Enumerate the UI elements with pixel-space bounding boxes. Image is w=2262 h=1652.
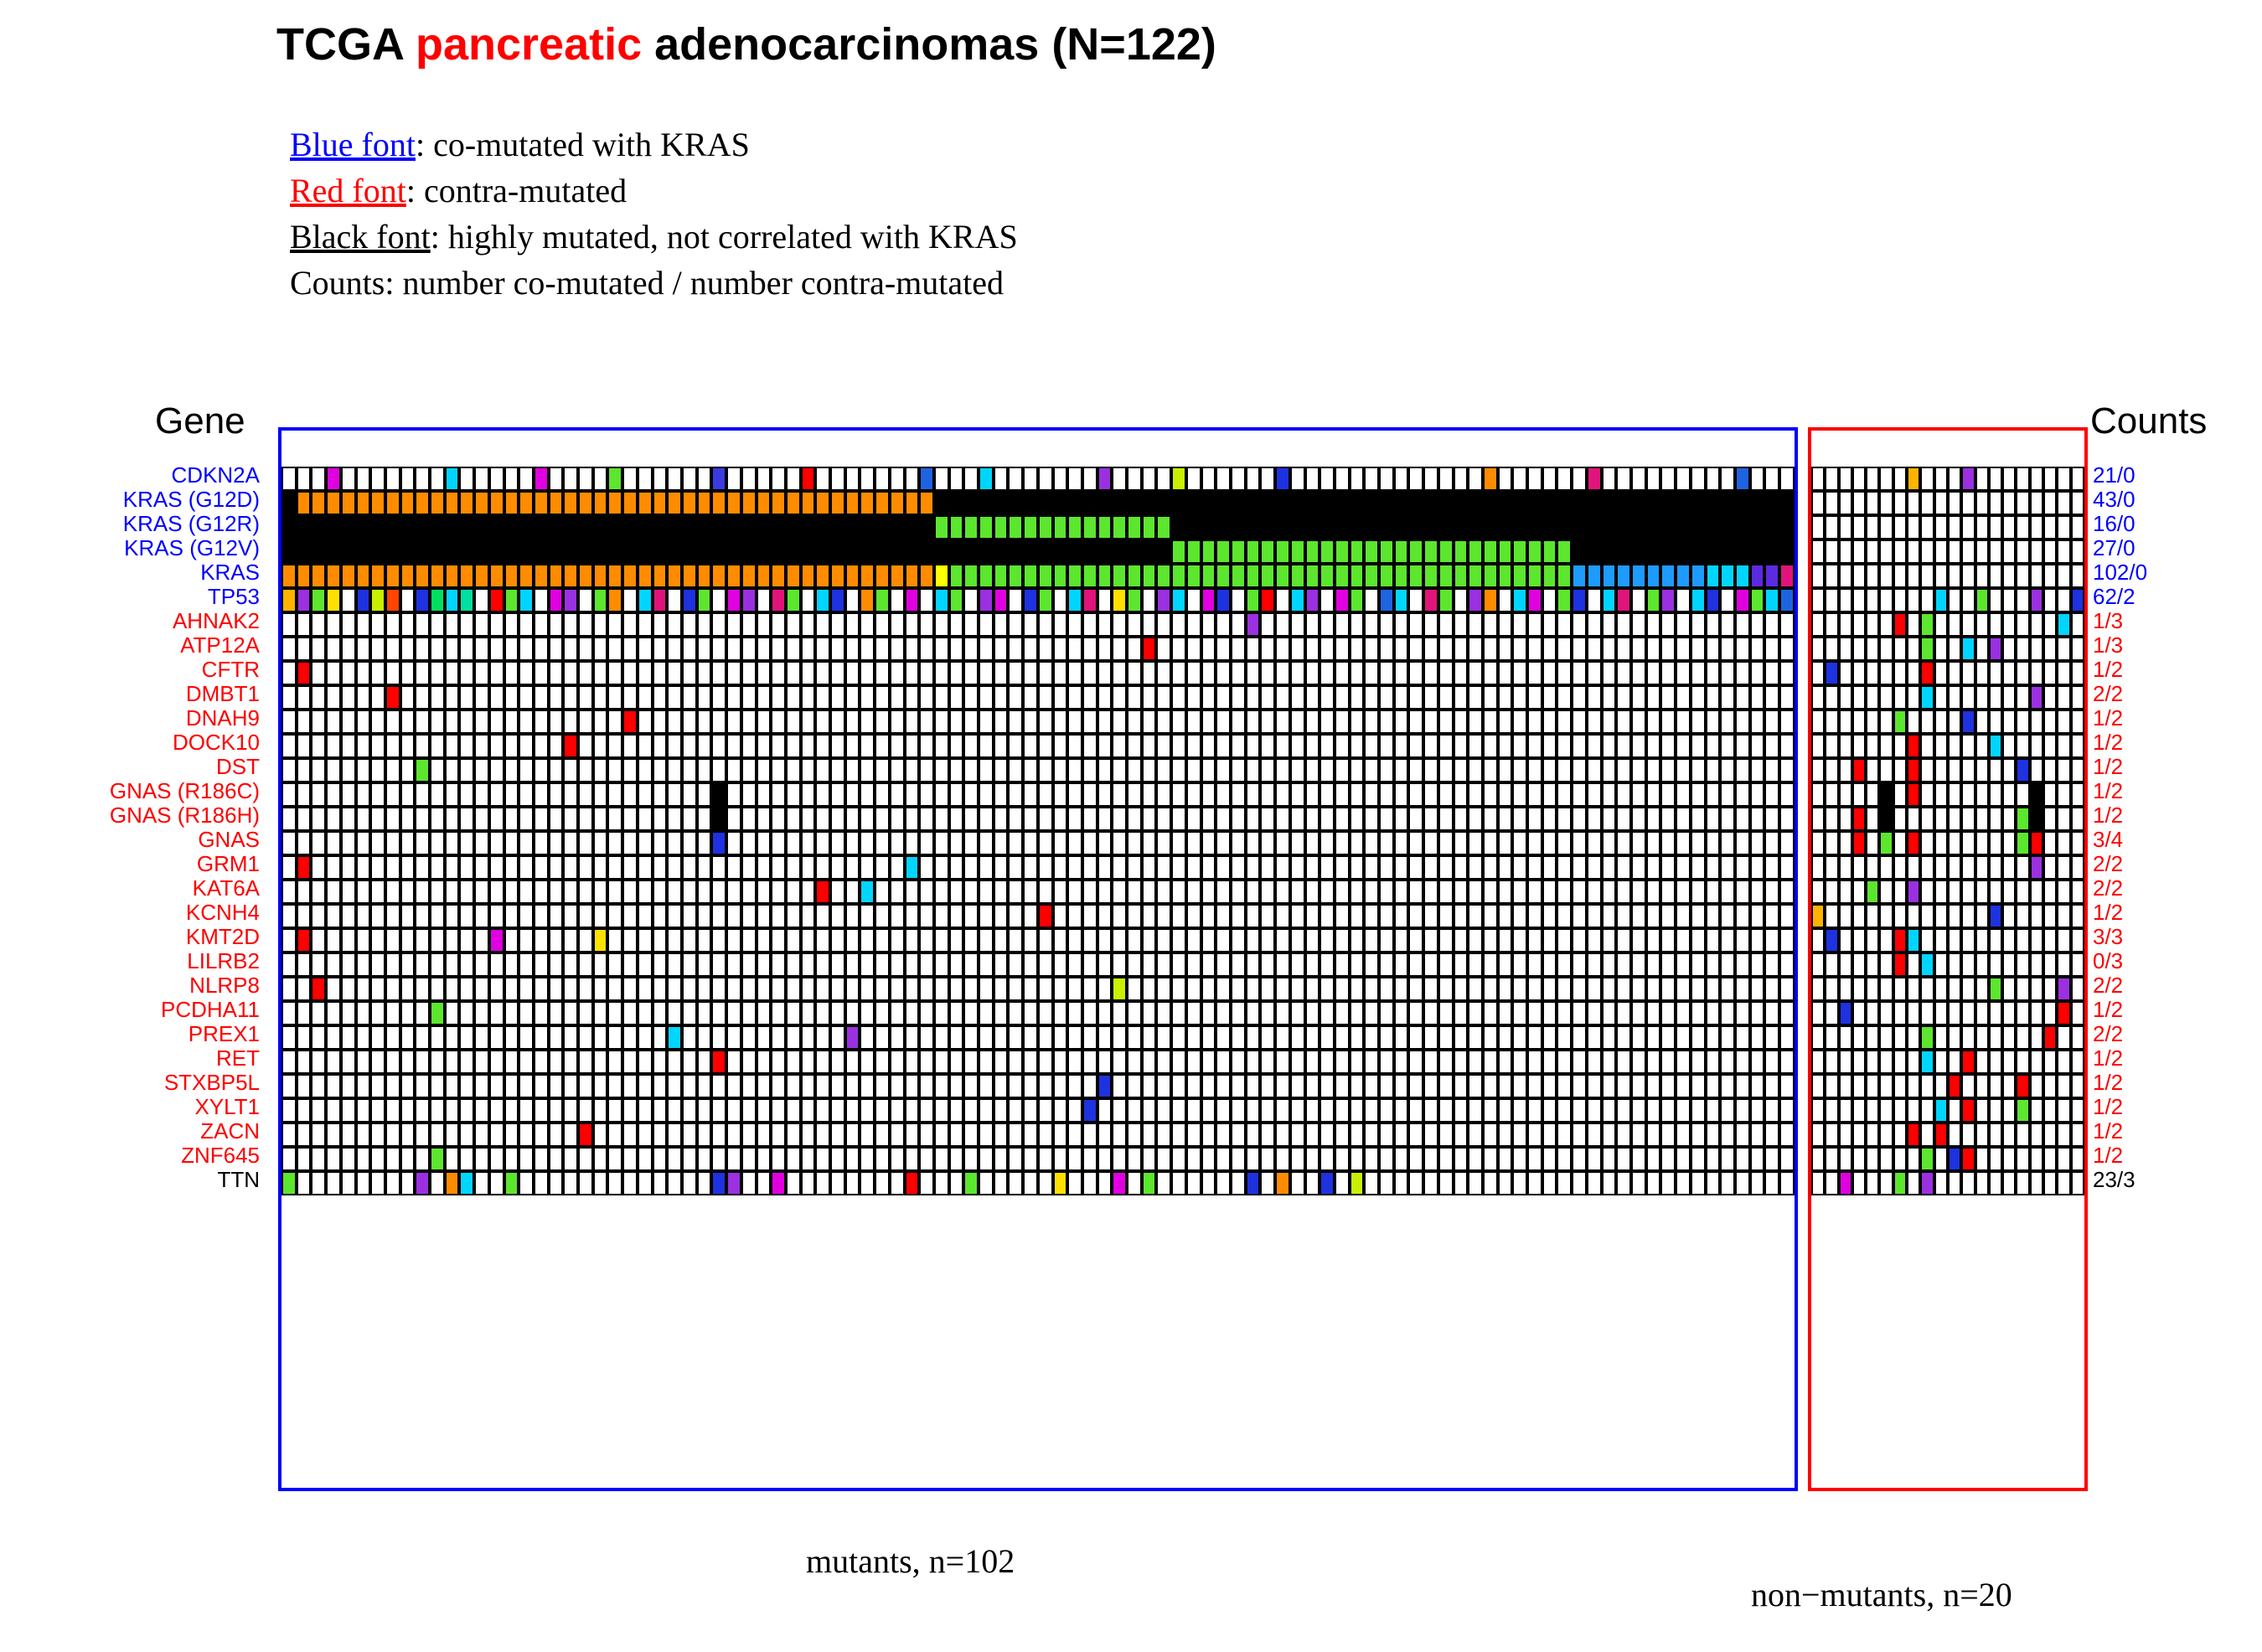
heatmap-cell[interactable] [1866,758,1879,782]
heatmap-cell[interactable] [963,539,979,564]
heatmap-cell[interactable] [474,491,489,515]
heatmap-cell[interactable] [949,1001,964,1025]
heatmap-cell[interactable] [1364,831,1379,855]
heatmap-cell[interactable] [1720,710,1735,734]
heatmap-cell[interactable] [459,1147,474,1171]
heatmap-cell[interactable] [697,1147,712,1171]
heatmap-cell[interactable] [1082,515,1097,539]
heatmap-cell[interactable] [2071,1025,2084,1050]
heatmap-cell[interactable] [607,710,622,734]
heatmap-cell[interactable] [1438,758,1454,782]
heatmap-cell[interactable] [1542,1050,1557,1074]
heatmap-cell[interactable] [638,1001,653,1025]
heatmap-cell[interactable] [1483,1050,1498,1074]
heatmap-cell[interactable] [415,758,430,782]
heatmap-cell[interactable] [1142,491,1157,515]
heatmap-cell[interactable] [1779,977,1795,1001]
heatmap-cell[interactable] [2057,588,2070,612]
heatmap-cell[interactable] [2043,491,2057,515]
heatmap-cell[interactable] [1920,491,1934,515]
heatmap-cell[interactable] [430,977,445,1001]
heatmap-cell[interactable] [370,685,385,710]
heatmap-cell[interactable] [1097,710,1113,734]
heatmap-cell[interactable] [549,564,564,588]
heatmap-cell[interactable] [1008,1098,1023,1123]
heatmap-cell[interactable] [1008,1074,1023,1098]
heatmap-cell[interactable] [1408,1074,1423,1098]
heatmap-cell[interactable] [741,807,757,831]
heatmap-cell[interactable] [1811,977,1825,1001]
heatmap-cell[interactable] [1948,1025,1961,1050]
heatmap-cell[interactable] [370,637,385,661]
heatmap-cell[interactable] [741,515,757,539]
heatmap-cell[interactable] [1720,612,1735,637]
heatmap-cell[interactable] [578,831,593,855]
heatmap-cell[interactable] [1735,1050,1750,1074]
heatmap-cell[interactable] [1319,685,1335,710]
heatmap-cell[interactable] [1468,515,1483,539]
heatmap-cell[interactable] [1216,588,1231,612]
heatmap-cell[interactable] [534,637,549,661]
heatmap-cell[interactable] [1602,1050,1617,1074]
heatmap-cell[interactable] [1038,880,1053,904]
heatmap-cell[interactable] [504,734,519,758]
heatmap-cell[interactable] [682,782,697,807]
heatmap-cell[interactable] [979,952,994,977]
heatmap-cell[interactable] [1454,1025,1469,1050]
heatmap-cell[interactable] [1631,661,1646,685]
heatmap-cell[interactable] [2057,1123,2070,1147]
heatmap-cell[interactable] [1907,564,1920,588]
heatmap-cell[interactable] [1275,491,1290,515]
heatmap-cell[interactable] [726,952,741,977]
heatmap-cell[interactable] [1676,661,1691,685]
heatmap-cell[interactable] [2002,588,2016,612]
heatmap-cell[interactable] [1893,1147,1907,1171]
heatmap-cell[interactable] [860,710,875,734]
heatmap-cell[interactable] [400,515,416,539]
heatmap-cell[interactable] [653,710,668,734]
heatmap-cell[interactable] [578,880,593,904]
heatmap-cell[interactable] [757,1147,772,1171]
heatmap-cell[interactable] [1676,710,1691,734]
heatmap-cell[interactable] [1498,734,1513,758]
heatmap-cell[interactable] [578,539,593,564]
heatmap-cell[interactable] [875,612,890,637]
heatmap-cell[interactable] [1811,734,1825,758]
heatmap-cell[interactable] [1839,588,1852,612]
heatmap-cell[interactable] [549,928,564,952]
heatmap-cell[interactable] [979,467,994,491]
heatmap-cell[interactable] [875,782,890,807]
heatmap-cell[interactable] [1735,1098,1750,1123]
heatmap-cell[interactable] [1676,685,1691,710]
heatmap-cell[interactable] [875,491,890,515]
heatmap-cell[interactable] [1483,467,1498,491]
heatmap-cell[interactable] [1038,588,1053,612]
heatmap-cell[interactable] [1319,612,1335,637]
heatmap-cell[interactable] [474,855,489,880]
heatmap-cell[interactable] [1483,952,1498,977]
heatmap-cell[interactable] [994,1025,1009,1050]
heatmap-cell[interactable] [697,467,712,491]
heatmap-cell[interactable] [1527,928,1542,952]
heatmap-cell[interactable] [1948,1050,1961,1074]
heatmap-cell[interactable] [682,904,697,928]
heatmap-cell[interactable] [1660,952,1676,977]
heatmap-cell[interactable] [1394,904,1409,928]
heatmap-cell[interactable] [370,952,385,977]
heatmap-cell[interactable] [1231,685,1246,710]
heatmap-cell[interactable] [1866,1123,1879,1147]
heatmap-cell[interactable] [726,977,741,1001]
heatmap-cell[interactable] [1691,539,1706,564]
heatmap-cell[interactable] [1186,734,1201,758]
heatmap-cell[interactable] [489,661,504,685]
heatmap-cell[interactable] [711,1171,726,1195]
heatmap-cell[interactable] [607,977,622,1001]
heatmap-cell[interactable] [341,515,356,539]
heatmap-cell[interactable] [311,685,326,710]
heatmap-cell[interactable] [1542,1025,1557,1050]
heatmap-cell[interactable] [1082,564,1097,588]
heatmap-cell[interactable] [445,855,460,880]
heatmap-cell[interactable] [459,564,474,588]
heatmap-cell[interactable] [1961,758,1975,782]
heatmap-cell[interactable] [1008,564,1023,588]
heatmap-cell[interactable] [1319,1050,1335,1074]
heatmap-cell[interactable] [430,685,445,710]
heatmap-cell[interactable] [1127,758,1142,782]
heatmap-cell[interactable] [741,904,757,928]
heatmap-cell[interactable] [1893,952,1907,977]
heatmap-cell[interactable] [504,467,519,491]
heatmap-cell[interactable] [1305,491,1320,515]
heatmap-cell[interactable] [1171,1074,1186,1098]
heatmap-cell[interactable] [1112,1074,1127,1098]
heatmap-cell[interactable] [1616,1147,1631,1171]
heatmap-cell[interactable] [1438,685,1454,710]
heatmap-cell[interactable] [356,1171,371,1195]
heatmap-cell[interactable] [1706,1025,1721,1050]
heatmap-cell[interactable] [1468,734,1483,758]
heatmap-cell[interactable] [979,1123,994,1147]
heatmap-cell[interactable] [1379,977,1394,1001]
heatmap-cell[interactable] [667,904,682,928]
heatmap-cell[interactable] [1572,661,1587,685]
heatmap-cell[interactable] [1171,685,1186,710]
heatmap-cell[interactable] [830,928,845,952]
heatmap-cell[interactable] [430,734,445,758]
heatmap-cell[interactable] [1866,1098,1879,1123]
heatmap-cell[interactable] [1764,467,1779,491]
heatmap-cell[interactable] [1127,588,1142,612]
heatmap-cell[interactable] [1067,539,1082,564]
heatmap-cell[interactable] [1305,515,1320,539]
heatmap-cell[interactable] [653,491,668,515]
heatmap-cell[interactable] [875,855,890,880]
heatmap-cell[interactable] [890,685,905,710]
heatmap-cell[interactable] [1067,467,1082,491]
heatmap-cell[interactable] [1038,1123,1053,1147]
heatmap-cell[interactable] [1082,1171,1097,1195]
heatmap-cell[interactable] [1527,1123,1542,1147]
heatmap-cell[interactable] [771,1050,786,1074]
heatmap-cell[interactable] [963,904,979,928]
heatmap-cell[interactable] [1660,1171,1676,1195]
heatmap-cell[interactable] [771,539,786,564]
heatmap-cell[interactable] [1764,928,1779,952]
heatmap-cell[interactable] [1231,1050,1246,1074]
heatmap-cell[interactable] [549,952,564,977]
heatmap-cell[interactable] [1053,734,1068,758]
heatmap-cell[interactable] [726,1001,741,1025]
heatmap-cell[interactable] [549,1025,564,1050]
heatmap-cell[interactable] [741,637,757,661]
heatmap-cell[interactable] [2030,734,2043,758]
heatmap-cell[interactable] [1246,661,1261,685]
heatmap-cell[interactable] [1542,612,1557,637]
heatmap-cell[interactable] [667,977,682,1001]
heatmap-cell[interactable] [326,1171,341,1195]
heatmap-cell[interactable] [356,612,371,637]
heatmap-cell[interactable] [1660,831,1676,855]
heatmap-cell[interactable] [1171,880,1186,904]
heatmap-cell[interactable] [1975,855,1989,880]
heatmap-cell[interactable] [1907,880,1920,904]
heatmap-cell[interactable] [2043,880,2057,904]
heatmap-cell[interactable] [667,515,682,539]
heatmap-cell[interactable] [578,1147,593,1171]
heatmap-cell[interactable] [1468,1123,1483,1147]
heatmap-cell[interactable] [994,807,1009,831]
heatmap-cell[interactable] [549,758,564,782]
heatmap-cell[interactable] [1171,1147,1186,1171]
heatmap-cell[interactable] [1468,1074,1483,1098]
heatmap-cell[interactable] [667,831,682,855]
heatmap-cell[interactable] [1706,1001,1721,1025]
heatmap-cell[interactable] [1572,758,1587,782]
heatmap-cell[interactable] [519,515,534,539]
heatmap-cell[interactable] [1008,977,1023,1001]
heatmap-cell[interactable] [653,734,668,758]
heatmap-cell[interactable] [2071,637,2084,661]
heatmap-cell[interactable] [1975,952,1989,977]
heatmap-cell[interactable] [1779,515,1795,539]
heatmap-cell[interactable] [1764,1025,1779,1050]
heatmap-cell[interactable] [1053,1123,1068,1147]
heatmap-cell[interactable] [1907,855,1920,880]
heatmap-cell[interactable] [979,685,994,710]
heatmap-cell[interactable] [1498,685,1513,710]
heatmap-cell[interactable] [1290,855,1305,880]
heatmap-cell[interactable] [1602,734,1617,758]
heatmap-cell[interactable] [534,1001,549,1025]
heatmap-cell[interactable] [1616,637,1631,661]
heatmap-cell[interactable] [504,831,519,855]
heatmap-cell[interactable] [1394,1025,1409,1050]
heatmap-cell[interactable] [845,807,860,831]
heatmap-cell[interactable] [2071,467,2084,491]
heatmap-cell[interactable] [1907,612,1920,637]
heatmap-cell[interactable] [1468,539,1483,564]
heatmap-cell[interactable] [1879,1025,1893,1050]
heatmap-cell[interactable] [1498,564,1513,588]
heatmap-cell[interactable] [711,1098,726,1123]
heatmap-cell[interactable] [1646,831,1661,855]
heatmap-cell[interactable] [1454,928,1469,952]
heatmap-cell[interactable] [890,952,905,977]
heatmap-cell[interactable] [1750,539,1765,564]
heatmap-cell[interactable] [726,880,741,904]
heatmap-cell[interactable] [563,637,578,661]
heatmap-cell[interactable] [1438,734,1454,758]
heatmap-cell[interactable] [504,1123,519,1147]
heatmap-cell[interactable] [1676,1098,1691,1123]
heatmap-cell[interactable] [1825,855,1838,880]
heatmap-cell[interactable] [400,1123,416,1147]
heatmap-cell[interactable] [1379,1050,1394,1074]
heatmap-cell[interactable] [1438,637,1454,661]
heatmap-cell[interactable] [1350,758,1365,782]
heatmap-cell[interactable] [1053,952,1068,977]
heatmap-cell[interactable] [2002,467,2016,491]
heatmap-cell[interactable] [1764,904,1779,928]
heatmap-cell[interactable] [1350,1074,1365,1098]
heatmap-cell[interactable] [1438,1171,1454,1195]
heatmap-cell[interactable] [489,734,504,758]
heatmap-cell[interactable] [726,1171,741,1195]
heatmap-cell[interactable] [504,977,519,1001]
heatmap-cell[interactable] [1082,710,1097,734]
heatmap-cell[interactable] [1394,1001,1409,1025]
heatmap-cell[interactable] [1587,1050,1602,1074]
heatmap-cell[interactable] [415,782,430,807]
heatmap-cell[interactable] [2002,952,2016,977]
heatmap-cell[interactable] [638,1123,653,1147]
heatmap-cell[interactable] [1468,831,1483,855]
heatmap-cell[interactable] [385,1050,400,1074]
heatmap-cell[interactable] [1557,637,1572,661]
heatmap-cell[interactable] [1720,807,1735,831]
heatmap-cell[interactable] [1839,1074,1852,1098]
heatmap-cell[interactable] [1231,904,1246,928]
heatmap-cell[interactable] [1512,685,1527,710]
heatmap-cell[interactable] [1082,539,1097,564]
heatmap-cell[interactable] [1934,952,1948,977]
heatmap-cell[interactable] [1038,1171,1053,1195]
heatmap-cell[interactable] [445,1123,460,1147]
heatmap-cell[interactable] [697,515,712,539]
heatmap-cell[interactable] [1023,1123,1038,1147]
heatmap-cell[interactable] [1498,880,1513,904]
heatmap-cell[interactable] [934,467,949,491]
heatmap-cell[interactable] [1602,661,1617,685]
heatmap-cell[interactable] [474,904,489,928]
heatmap-cell[interactable] [459,1050,474,1074]
heatmap-cell[interactable] [474,588,489,612]
heatmap-cell[interactable] [1852,1001,1866,1025]
heatmap-cell[interactable] [1305,977,1320,1001]
heatmap-cell[interactable] [1948,1171,1961,1195]
heatmap-cell[interactable] [1691,855,1706,880]
heatmap-cell[interactable] [1616,782,1631,807]
heatmap-cell[interactable] [1097,758,1113,782]
heatmap-cell[interactable] [1660,1123,1676,1147]
heatmap-cell[interactable] [638,564,653,588]
heatmap-cell[interactable] [1764,1001,1779,1025]
heatmap-cell[interactable] [994,734,1009,758]
heatmap-cell[interactable] [1038,1147,1053,1171]
heatmap-cell[interactable] [1975,880,1989,904]
heatmap-cell[interactable] [1512,880,1527,904]
heatmap-cell[interactable] [1989,661,2002,685]
heatmap-cell[interactable] [1825,904,1838,928]
heatmap-cell[interactable] [326,928,341,952]
heatmap-cell[interactable] [934,710,949,734]
heatmap-cell[interactable] [682,928,697,952]
heatmap-cell[interactable] [459,467,474,491]
heatmap-cell[interactable] [638,1147,653,1171]
heatmap-cell[interactable] [1879,928,1893,952]
heatmap-cell[interactable] [1866,539,1879,564]
heatmap-cell[interactable] [607,612,622,637]
heatmap-cell[interactable] [741,661,757,685]
heatmap-cell[interactable] [726,539,741,564]
heatmap-cell[interactable] [1750,782,1765,807]
heatmap-cell[interactable] [830,710,845,734]
heatmap-cell[interactable] [890,710,905,734]
heatmap-cell[interactable] [607,758,622,782]
heatmap-cell[interactable] [1676,977,1691,1001]
heatmap-cell[interactable] [919,685,934,710]
heatmap-cell[interactable] [1038,904,1053,928]
heatmap-cell[interactable] [1676,515,1691,539]
heatmap-cell[interactable] [771,685,786,710]
heatmap-cell[interactable] [1423,491,1438,515]
heatmap-cell[interactable] [860,685,875,710]
heatmap-cell[interactable] [1866,491,1879,515]
heatmap-cell[interactable] [1023,491,1038,515]
heatmap-cell[interactable] [459,637,474,661]
heatmap-cell[interactable] [326,539,341,564]
heatmap-cell[interactable] [1893,782,1907,807]
heatmap-cell[interactable] [1216,1074,1231,1098]
heatmap-cell[interactable] [1290,685,1305,710]
heatmap-cell[interactable] [1468,782,1483,807]
heatmap-cell[interactable] [890,1001,905,1025]
heatmap-cell[interactable] [1542,1001,1557,1025]
heatmap-cell[interactable] [1053,685,1068,710]
heatmap-cell[interactable] [1290,977,1305,1001]
heatmap-cell[interactable] [949,1171,964,1195]
heatmap-cell[interactable] [1720,685,1735,710]
heatmap-cell[interactable] [1438,782,1454,807]
heatmap-cell[interactable] [2016,1001,2029,1025]
heatmap-cell[interactable] [1948,612,1961,637]
heatmap-cell[interactable] [459,1098,474,1123]
heatmap-cell[interactable] [1720,928,1735,952]
heatmap-cell[interactable] [474,515,489,539]
heatmap-cell[interactable] [1305,734,1320,758]
heatmap-cell[interactable] [1989,710,2002,734]
heatmap-cell[interactable] [1408,661,1423,685]
heatmap-cell[interactable] [757,1001,772,1025]
heatmap-cell[interactable] [1171,491,1186,515]
heatmap-cell[interactable] [1023,904,1038,928]
heatmap-cell[interactable] [1127,831,1142,855]
heatmap-cell[interactable] [1527,515,1542,539]
